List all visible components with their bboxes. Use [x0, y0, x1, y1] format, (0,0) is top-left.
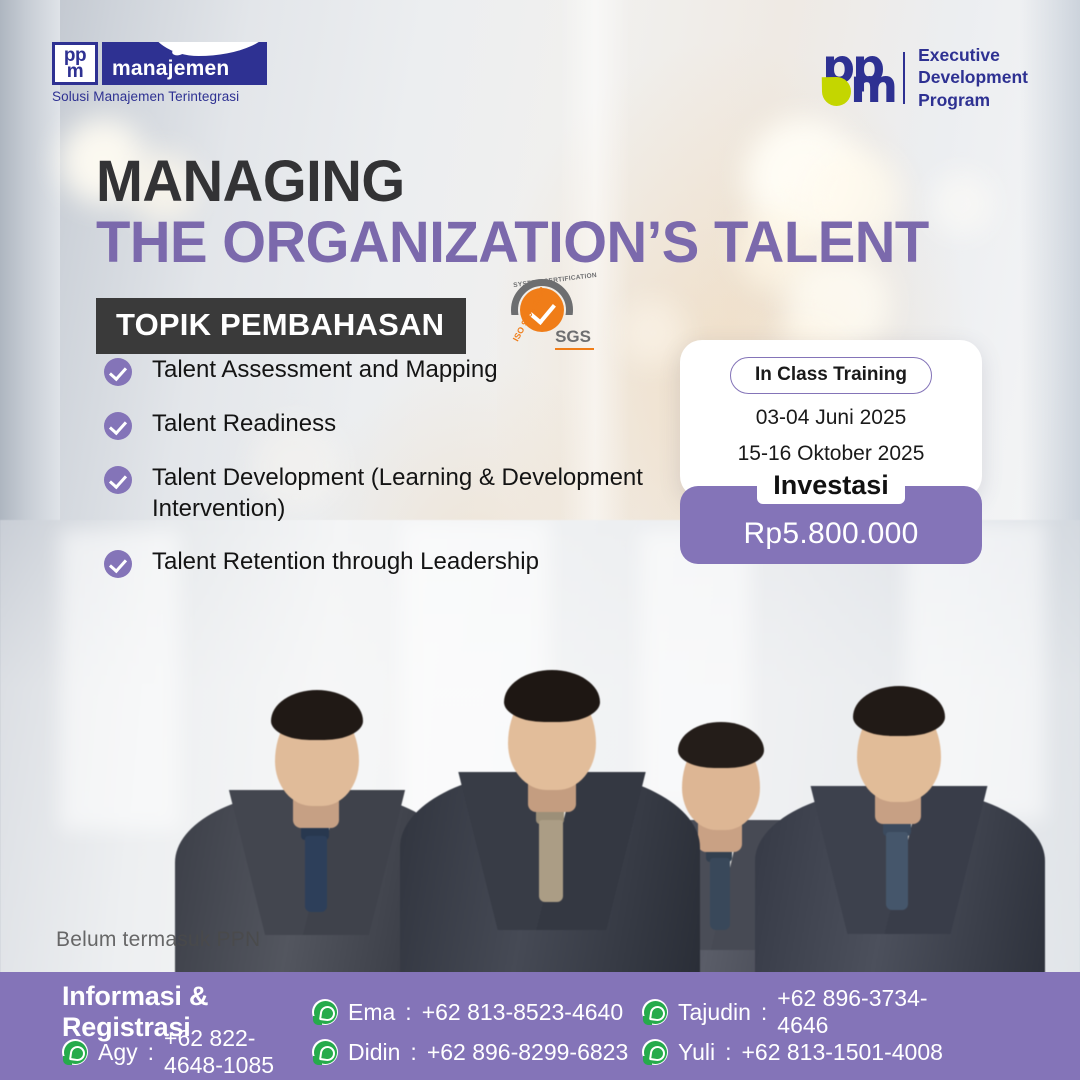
topic-label: Talent Assessment and Mapping [152, 355, 498, 386]
contact-separator: : [725, 1039, 731, 1066]
contact-separator: : [148, 1039, 154, 1066]
title-line-2: THE ORGANIZATION’S TALENT [96, 211, 929, 276]
contact-name: Agy [98, 1039, 138, 1066]
contact-separator: : [410, 1039, 416, 1066]
sgs-certification-badge: SYSTEM CERTIFICATION ISO 9001:2008 SGS [497, 275, 593, 357]
training-mode-badge: In Class Training [730, 357, 932, 394]
manajemen-wordmark-bar: manajemen [102, 42, 267, 85]
list-item: Talent Development (Learning & Developme… [104, 463, 684, 524]
necktie [710, 858, 730, 930]
ppm-manajemen-logo: pp m manajemen Solusi Manajemen Terinteg… [52, 42, 267, 104]
executive-development-program-logo: p p m Executive Development Program [822, 44, 1028, 111]
training-date: 15-16 Oktober 2025 [680, 442, 982, 466]
manajemen-wordmark: manajemen [112, 57, 229, 81]
hair [504, 670, 600, 722]
topics-list: Talent Assessment and Mapping Talent Rea… [104, 355, 684, 601]
contact-separator: : [761, 999, 767, 1026]
title-line-1: MANAGING [96, 152, 929, 211]
leaf-icon [822, 76, 852, 106]
contact-item[interactable]: Tajudin : +62 896-3734-4646 [642, 985, 972, 1039]
topics-heading: TOPIK PEMBAHASAN [96, 298, 466, 354]
monogram-m: m [850, 63, 898, 109]
tax-note: Belum termasuk PPN [56, 928, 260, 952]
ppm-edp-monogram: p p m [822, 47, 890, 109]
check-circle-icon [104, 550, 132, 578]
hair [853, 686, 945, 736]
edp-line-2: Development [918, 66, 1028, 88]
logo-lockup: pp m manajemen [52, 42, 267, 85]
contact-phone: +62 813-1501-4008 [741, 1039, 942, 1066]
price-value: Rp5.800.000 [743, 517, 918, 551]
page-title: MANAGING THE ORGANIZATION’S TALENT [96, 152, 955, 276]
contact-phone: +62 813-8523-4640 [422, 999, 623, 1026]
edp-wordmark: Executive Development Program [918, 44, 1028, 111]
logo-tagline: Solusi Manajemen Terintegrasi [52, 89, 267, 104]
contact-name: Tajudin [678, 999, 751, 1026]
edp-line-1: Executive [918, 44, 1028, 66]
whatsapp-icon [642, 1039, 668, 1065]
contact-name: Didin [348, 1039, 400, 1066]
topic-label: Talent Readiness [152, 409, 336, 440]
topic-label: Talent Retention through Leadership [152, 547, 539, 578]
list-item: Talent Assessment and Mapping [104, 355, 684, 386]
swoosh-shape-icon [149, 42, 267, 56]
necktie [886, 832, 908, 910]
hair [271, 690, 363, 740]
edp-line-3: Program [918, 89, 1028, 111]
contact-footer: Informasi & Registrasi Ema : +62 813-852… [0, 972, 1080, 1080]
contact-item[interactable]: Yuli : +62 813-1501-4008 [642, 1039, 972, 1066]
logo-divider [903, 52, 905, 104]
investment-label: Investasi [757, 470, 905, 504]
check-circle-icon [104, 358, 132, 386]
contact-name: Yuli [678, 1039, 715, 1066]
whatsapp-icon [62, 1039, 88, 1065]
contact-phone: +62 896-3734-4646 [777, 985, 972, 1039]
contact-phone: +62 822-4648-1085 [164, 1025, 312, 1079]
contact-name: Ema [348, 999, 395, 1026]
whatsapp-icon [312, 999, 338, 1025]
check-circle-icon [104, 412, 132, 440]
ppm-monogram-m: m [67, 64, 83, 80]
whatsapp-icon [642, 999, 668, 1025]
contact-item[interactable]: Didin : +62 896-8299-6823 [312, 1039, 642, 1066]
topic-label: Talent Development (Learning & Developme… [152, 463, 684, 524]
contact-item[interactable]: Ema : +62 813-8523-4640 [312, 999, 642, 1026]
sgs-wordmark: SGS [555, 327, 591, 347]
necktie [539, 820, 563, 902]
list-item: Talent Readiness [104, 409, 684, 440]
footer-row-bottom: Agy : +62 822-4648-1085 Didin : +62 896-… [0, 1032, 1080, 1072]
check-circle-icon [104, 466, 132, 494]
contact-phone: +62 896-8299-6823 [427, 1039, 628, 1066]
ppm-monogram: pp m [52, 42, 98, 85]
whatsapp-icon [312, 1039, 338, 1065]
contact-item[interactable]: Agy : +62 822-4648-1085 [0, 1025, 312, 1079]
list-item: Talent Retention through Leadership [104, 547, 684, 578]
necktie [305, 836, 327, 912]
contact-separator: : [405, 999, 411, 1026]
training-date: 03-04 Juni 2025 [680, 406, 982, 430]
